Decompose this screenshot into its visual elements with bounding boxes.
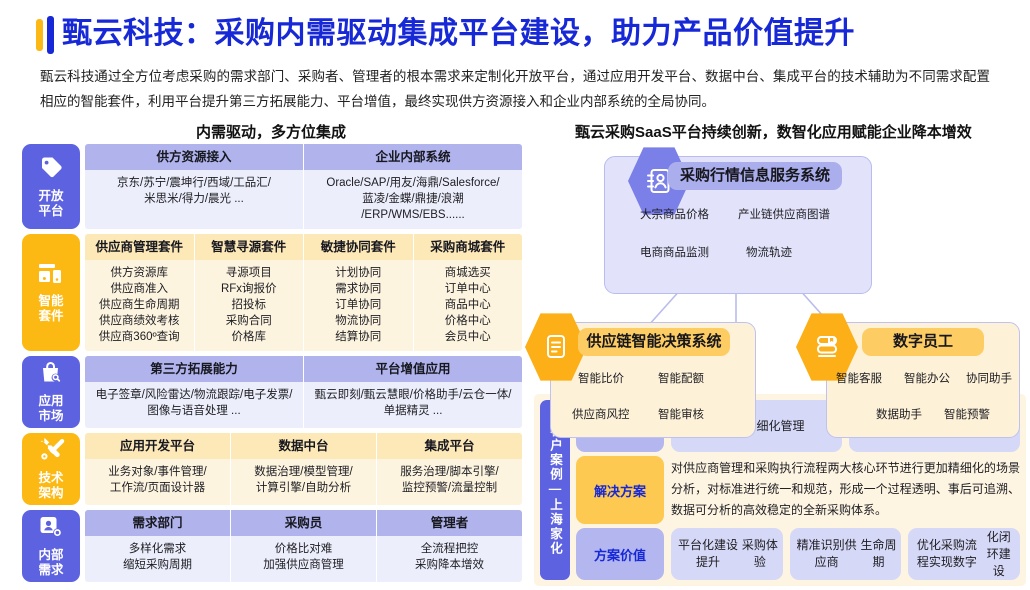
matrix-cell-header: 智慧寻源套件 (195, 234, 304, 260)
matrix-cell-header: 需求部门 (85, 510, 230, 536)
matrix-row-columns: 供方资源接入京东/苏宁/震坤行/西域/工品汇/米思米/得力/晨光 ...企业内部… (85, 144, 522, 229)
matrix-cell-body: 价格比对难加强供应商管理 (231, 536, 376, 582)
case-study-value-card[interactable]: 优化采购流程实现数字化闭环建设 (908, 528, 1020, 580)
matrix-cell-header: 采购员 (231, 510, 376, 536)
card-item: 智能审核 (658, 406, 704, 422)
card-item: 智能办公 (904, 370, 950, 386)
matrix-cell-header: 采购商城套件 (414, 234, 523, 260)
card-item: 电商商品监测 (640, 244, 709, 260)
accent-bar-blue (47, 16, 54, 54)
matrix-cell[interactable]: 智慧寻源套件寻源项目RFx询报价招投标采购合同价格库 (194, 234, 304, 351)
accent-bar-yellow (36, 19, 43, 51)
case-study-row: 解决方案对供应商管理和采购执行流程两大核心环节进行更加精细化的场景分析，对标准进… (576, 456, 1020, 524)
matrix-cell-body: 计划协同需求协同订单协同物流协同结算协同 (304, 260, 413, 351)
matrix-cell[interactable]: 采购商城套件商城选买订单中心商品中心价格中心会员中心 (413, 234, 523, 351)
matrix-row-columns: 第三方拓展能力电子签章/风险雷达/物流跟踪/电子发票/图像与语音处理 ...平台… (85, 356, 522, 428)
matrix-cell-body: 数据治理/模型管理/计算引擎/自助分析 (231, 459, 376, 505)
shopping-bag-search-icon (38, 360, 64, 390)
matrix-cell-header: 集成平台 (377, 433, 522, 459)
matrix-row-columns: 供应商管理套件供方资源库供应商准入供应商生命周期供应商绩效考核供应商360º查询… (85, 234, 522, 351)
page-header: 甄云科技：采购内需驱动集成平台建设，助力产品价值提升 (0, 12, 1030, 58)
matrix-row: 内部需求需求部门多样化需求缩短采购周期采购员价格比对难加强供应商管理管理者全流程… (22, 510, 522, 582)
matrix-cell-header: 敏捷协同套件 (304, 234, 413, 260)
matrix-row: 智能套件供应商管理套件供方资源库供应商准入供应商生命周期供应商绩效考核供应商36… (22, 234, 522, 351)
matrix-cell-body: 寻源项目RFx询报价招投标采购合同价格库 (195, 260, 304, 351)
matrix-cell-header: 管理者 (377, 510, 522, 536)
matrix-row-badge-label: 应用市场 (38, 394, 63, 424)
matrix-cell-body: 供方资源库供应商准入供应商生命周期供应商绩效考核供应商360º查询 (85, 260, 194, 351)
left-section-caption: 内需驱动，多方位集成 (196, 121, 346, 142)
case-study-row-key[interactable]: 方案价值 (576, 528, 664, 580)
page-title: 甄云科技：采购内需驱动集成平台建设，助力产品价值提升 (62, 12, 855, 56)
card-item: 智能客服 (836, 370, 882, 386)
matrix-cell-body: 商城选买订单中心商品中心价格中心会员中心 (414, 260, 523, 351)
matrix-row-badge[interactable]: 开放平台 (22, 144, 80, 229)
card-item: 产业链供应商图谱 (738, 206, 830, 222)
matrix-row: 应用市场第三方拓展能力电子签章/风险雷达/物流跟踪/电子发票/图像与语音处理 .… (22, 356, 522, 428)
matrix-cell-body: 服务治理/脚本引擎/监控预警/流量控制 (377, 459, 522, 505)
card-item: 大宗商品价格 (640, 206, 709, 222)
user-badge-icon (38, 514, 64, 544)
matrix-row: 开放平台供方资源接入京东/苏宁/震坤行/西域/工品汇/米思米/得力/晨光 ...… (22, 144, 522, 229)
devices-icon (38, 262, 65, 290)
matrix-cell-body: 京东/苏宁/震坤行/西域/工品汇/米思米/得力/晨光 ... (85, 170, 303, 229)
card-item: 智能配额 (658, 370, 704, 386)
matrix-cell-header: 供应商管理套件 (85, 234, 194, 260)
case-study-solution-text: 对供应商管理和采购执行流程两大核心环节进行更加精细化的场景分析，对标准进行统一和… (671, 456, 1020, 524)
case-study-row-key[interactable]: 解决方案 (576, 456, 664, 524)
card-digital-worker-title: 数字员工 (862, 328, 984, 356)
card-item: 物流轨迹 (746, 244, 792, 260)
matrix-cell-header: 数据中台 (231, 433, 376, 459)
card-item: 智能比价 (578, 370, 624, 386)
matrix-cell-header: 企业内部系统 (304, 144, 522, 170)
card-item: 数据助手 (876, 406, 922, 422)
card-item: 供应商风控 (572, 406, 630, 422)
matrix-row-badge[interactable]: 智能套件 (22, 234, 80, 351)
case-study-vertical-text: 客户案例—上海家化 (540, 424, 570, 556)
matrix-cell[interactable]: 供应商管理套件供方资源库供应商准入供应商生命周期供应商绩效考核供应商360º查询 (85, 234, 194, 351)
matrix-cell[interactable]: 第三方拓展能力电子签章/风险雷达/物流跟踪/电子发票/图像与语音处理 ... (85, 356, 303, 428)
matrix-cell-body: 电子签章/风险雷达/物流跟踪/电子发票/图像与语音处理 ... (85, 382, 303, 428)
capability-matrix: 开放平台供方资源接入京东/苏宁/震坤行/西域/工品汇/米思米/得力/晨光 ...… (22, 144, 522, 587)
matrix-row-badge[interactable]: 技术架构 (22, 433, 80, 505)
card-item: 智能预警 (944, 406, 990, 422)
tag-icon (38, 155, 64, 185)
slide-root: 甄云科技：采购内需驱动集成平台建设，助力产品价值提升 甄云科技通过全方位考虑采购… (0, 0, 1030, 590)
matrix-cell[interactable]: 敏捷协同套件计划协同需求协同订单协同物流协同结算协同 (303, 234, 413, 351)
matrix-cell-header: 平台增值应用 (304, 356, 522, 382)
title-accent-bars (36, 16, 54, 54)
matrix-cell[interactable]: 企业内部系统Oracle/SAP/用友/海鼎/Salesforce/蓝凌/金蝶/… (303, 144, 522, 229)
matrix-cell-header: 应用开发平台 (85, 433, 230, 459)
matrix-cell-body: 全流程把控采购降本增效 (377, 536, 522, 582)
case-study-row: 方案价值平台化建设提升采购体验精准识别供应商生命周期优化采购流程实现数字化闭环建… (576, 528, 1020, 580)
right-section-caption: 甄云采购SaaS平台持续创新，数智化应用赋能企业降本增效 (575, 121, 972, 142)
matrix-cell[interactable]: 采购员价格比对难加强供应商管理 (230, 510, 376, 582)
matrix-cell[interactable]: 需求部门多样化需求缩短采购周期 (85, 510, 230, 582)
matrix-row-columns: 需求部门多样化需求缩短采购周期采购员价格比对难加强供应商管理管理者全流程把控采购… (85, 510, 522, 582)
matrix-row-badge[interactable]: 内部需求 (22, 510, 80, 582)
matrix-row-badge[interactable]: 应用市场 (22, 356, 80, 428)
matrix-cell-header: 供方资源接入 (85, 144, 303, 170)
matrix-cell[interactable]: 数据中台数据治理/模型管理/计算引擎/自助分析 (230, 433, 376, 505)
card-supply-decision-title: 供应链智能决策系统 (578, 328, 730, 356)
matrix-cell-body: 多样化需求缩短采购周期 (85, 536, 230, 582)
matrix-cell[interactable]: 集成平台服务治理/脚本引擎/监控预警/流量控制 (376, 433, 522, 505)
matrix-cell-body: Oracle/SAP/用友/海鼎/Salesforce/蓝凌/金蝶/鼎捷/浪潮/… (304, 170, 522, 229)
matrix-cell-body: 甄云即刻/甄云慧眼/价格助手/云仓一体/单据精灵 ... (304, 382, 522, 428)
matrix-row-badge-label: 内部需求 (38, 548, 63, 578)
intro-paragraph: 甄云科技通过全方位考虑采购的需求部门、采购者、管理者的根本需求来定制化开放平台，… (40, 64, 990, 114)
matrix-cell[interactable]: 供方资源接入京东/苏宁/震坤行/西域/工品汇/米思米/得力/晨光 ... (85, 144, 303, 229)
matrix-row-badge-label: 智能套件 (38, 294, 63, 324)
tools-icon (38, 437, 65, 467)
matrix-cell-header: 第三方拓展能力 (85, 356, 303, 382)
matrix-cell[interactable]: 管理者全流程把控采购降本增效 (376, 510, 522, 582)
matrix-row-badge-label: 技术架构 (38, 471, 63, 501)
matrix-cell[interactable]: 平台增值应用甄云即刻/甄云慧眼/价格助手/云仓一体/单据精灵 ... (303, 356, 522, 428)
matrix-row: 技术架构应用开发平台业务对象/事件管理/工作流/页面设计器数据中台数据治理/模型… (22, 433, 522, 505)
case-study-value-card[interactable]: 平台化建设提升采购体验 (671, 528, 783, 580)
matrix-cell-body: 业务对象/事件管理/工作流/页面设计器 (85, 459, 230, 505)
matrix-row-columns: 应用开发平台业务对象/事件管理/工作流/页面设计器数据中台数据治理/模型管理/计… (85, 433, 522, 505)
card-market-info-title: 采购行情信息服务系统 (668, 162, 842, 190)
card-item: 协同助手 (966, 370, 1012, 386)
matrix-row-badge-label: 开放平台 (38, 189, 63, 219)
matrix-cell[interactable]: 应用开发平台业务对象/事件管理/工作流/页面设计器 (85, 433, 230, 505)
case-study-value-card[interactable]: 精准识别供应商生命周期 (790, 528, 902, 580)
